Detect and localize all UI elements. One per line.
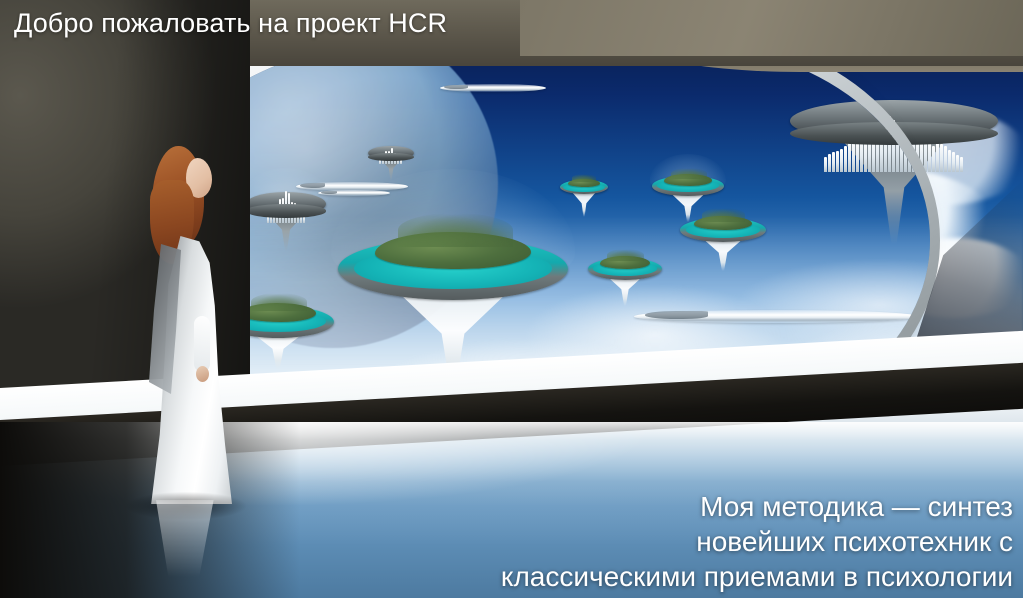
island-ridge	[251, 293, 307, 311]
island-rim	[368, 153, 414, 161]
caption-line-2: новейших психотехник с	[501, 524, 1013, 559]
airship-small-left	[318, 190, 390, 196]
airship-upper	[440, 84, 546, 92]
island-right-c	[588, 258, 662, 314]
presentation-slide: Добро пожаловать на проект HCR Моя метод…	[0, 0, 1023, 598]
island-mid-right	[560, 180, 608, 222]
hand	[196, 366, 209, 382]
page-title: Добро пожаловать на проект HCR	[14, 6, 447, 40]
airship-fin	[645, 311, 707, 319]
airship-fin	[300, 183, 325, 188]
caption-line-1: Моя методика — синтез	[501, 489, 1013, 524]
airship-long-right	[634, 310, 918, 323]
airship-fin	[444, 85, 467, 90]
caption-block: Моя методика — синтез новейших психотехн…	[501, 489, 1013, 594]
woman-figure	[120, 140, 240, 500]
airship-fin	[321, 191, 337, 194]
island-ridge	[671, 168, 707, 179]
island-right-b	[680, 218, 766, 280]
island-ridge	[702, 208, 745, 221]
island-ridge	[607, 249, 644, 261]
caption-line-3: классическими приемами в психологии	[501, 559, 1013, 594]
island-rim	[246, 204, 326, 217]
island-ridge	[572, 174, 596, 182]
arm	[194, 316, 210, 372]
island-upper-mid	[368, 146, 414, 186]
sky-city	[790, 100, 930, 260]
island-left-mid	[246, 192, 326, 260]
ceiling-highlight	[520, 0, 1023, 56]
island-ridge	[398, 213, 513, 247]
